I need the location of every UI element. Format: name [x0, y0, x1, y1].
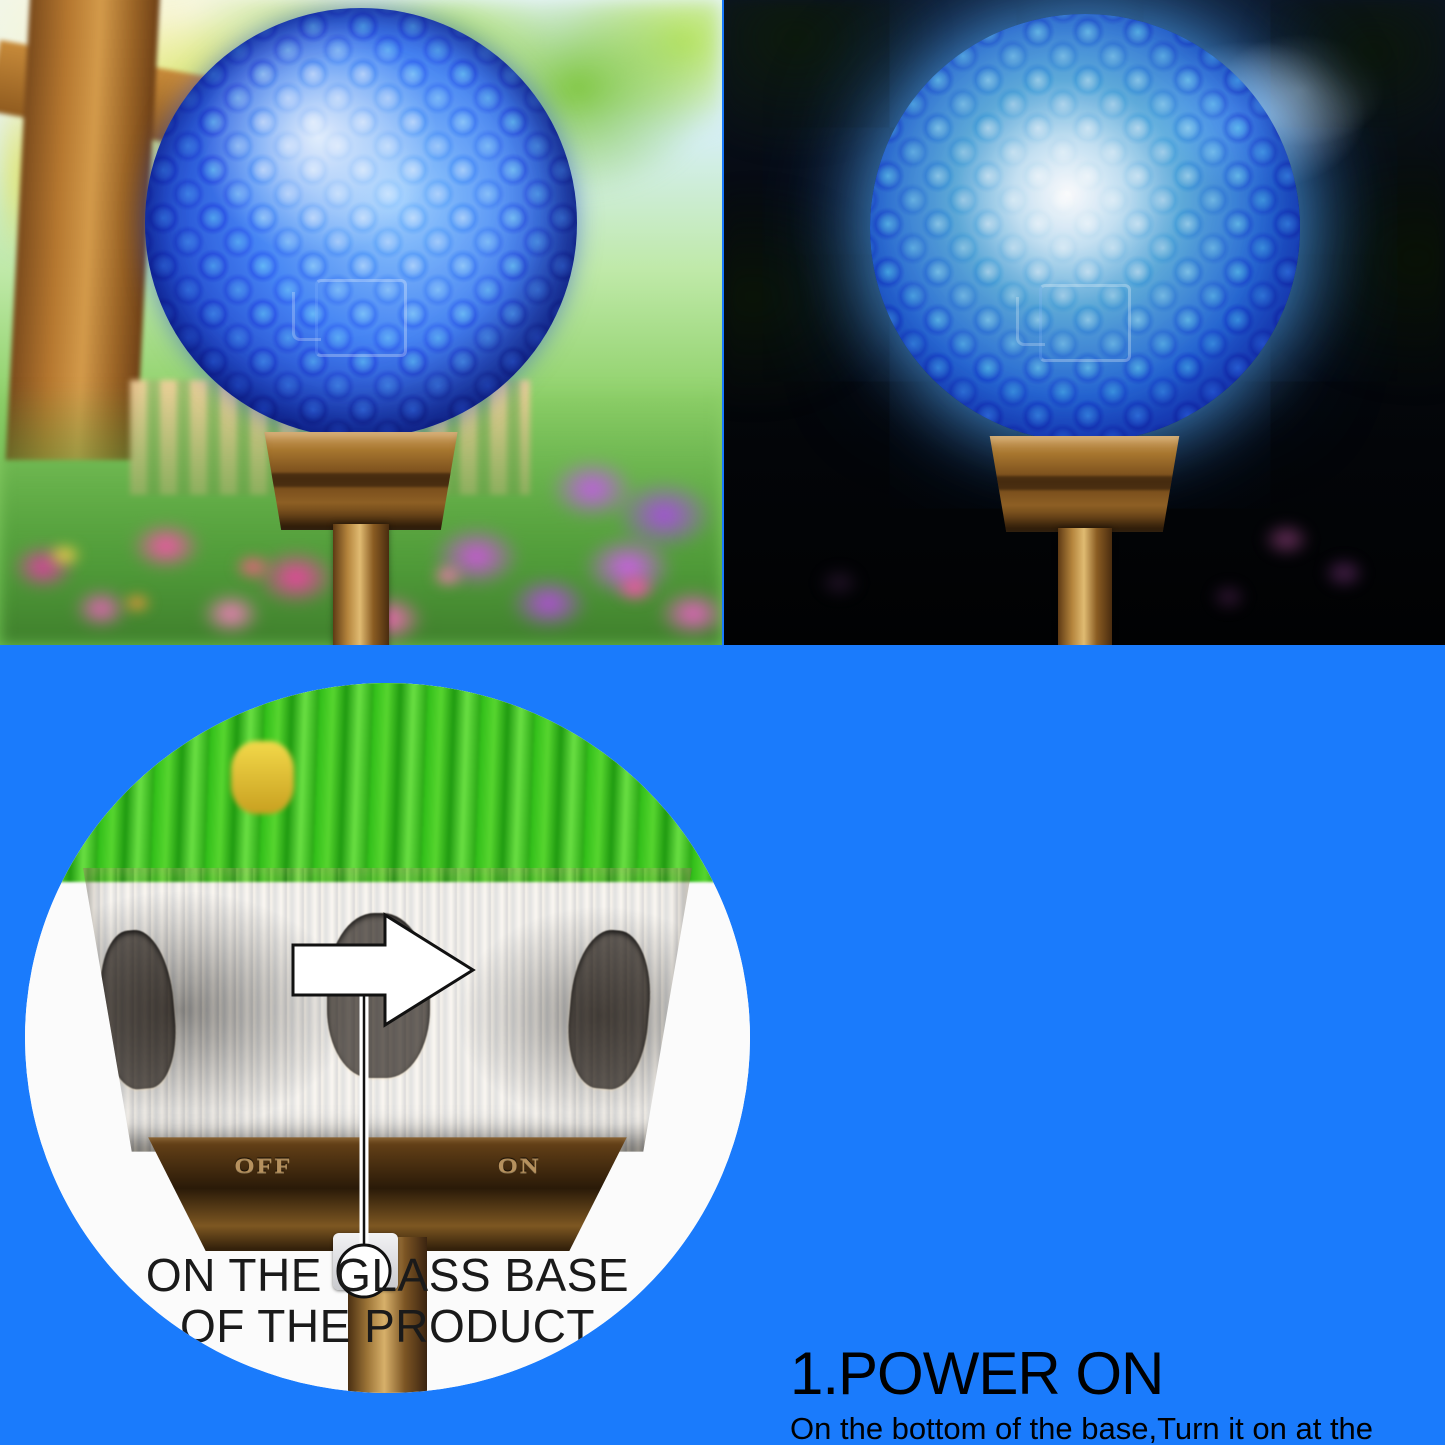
infographic-page: OFF ON ON THE GLASS BASE OF THE PRODUCT — [0, 0, 1445, 1445]
solar-globe-lamp-day — [141, 0, 581, 645]
bronze-base-cap-day — [256, 432, 466, 530]
detail-caption-line-2: OF THE PRODUCT — [25, 1301, 750, 1353]
switch-detail-circle: OFF ON ON THE GLASS BASE OF THE PRODUCT — [25, 683, 750, 1393]
product-photo-night — [724, 0, 1445, 645]
green-glass-globe-underside — [25, 683, 750, 882]
step-power-on: 1.POWER ON On the bottom of the base,Tur… — [790, 1340, 1430, 1445]
ground-stake-night — [1058, 528, 1112, 645]
on-label: ON — [498, 1154, 541, 1179]
hobnail-texture-offset — [870, 14, 1300, 442]
glass-globe-night — [870, 14, 1300, 442]
step-1-title: 1.POWER ON — [790, 1340, 1430, 1407]
globe-rim-shadow — [145, 8, 577, 438]
step-1-body: On the bottom of the base,Turn it on at … — [790, 1413, 1430, 1445]
bronze-base-underside — [83, 868, 692, 1152]
instructions-panel: OFF ON ON THE GLASS BASE OF THE PRODUCT — [0, 645, 1445, 1445]
product-photo-day — [0, 0, 722, 645]
steps-list: 1.POWER ON On the bottom of the base,Tur… — [790, 1340, 1430, 1445]
solar-globe-lamp-night — [865, 0, 1305, 645]
off-on-embossed-labels: OFF ON — [148, 1154, 627, 1179]
glass-globe-day — [145, 8, 577, 438]
off-label: OFF — [234, 1154, 292, 1179]
ground-stake-day — [333, 524, 389, 645]
led-filament — [1039, 284, 1131, 362]
base-vent-slot-middle — [327, 913, 431, 1078]
bronze-base-cap-night — [982, 436, 1188, 532]
step-1-line-1: On the bottom of the base,Turn it on at … — [790, 1413, 1373, 1445]
detail-caption-line-1: ON THE GLASS BASE — [25, 1250, 750, 1302]
detail-caption: ON THE GLASS BASE OF THE PRODUCT — [25, 1250, 750, 1353]
product-photo-strip — [0, 0, 1445, 645]
